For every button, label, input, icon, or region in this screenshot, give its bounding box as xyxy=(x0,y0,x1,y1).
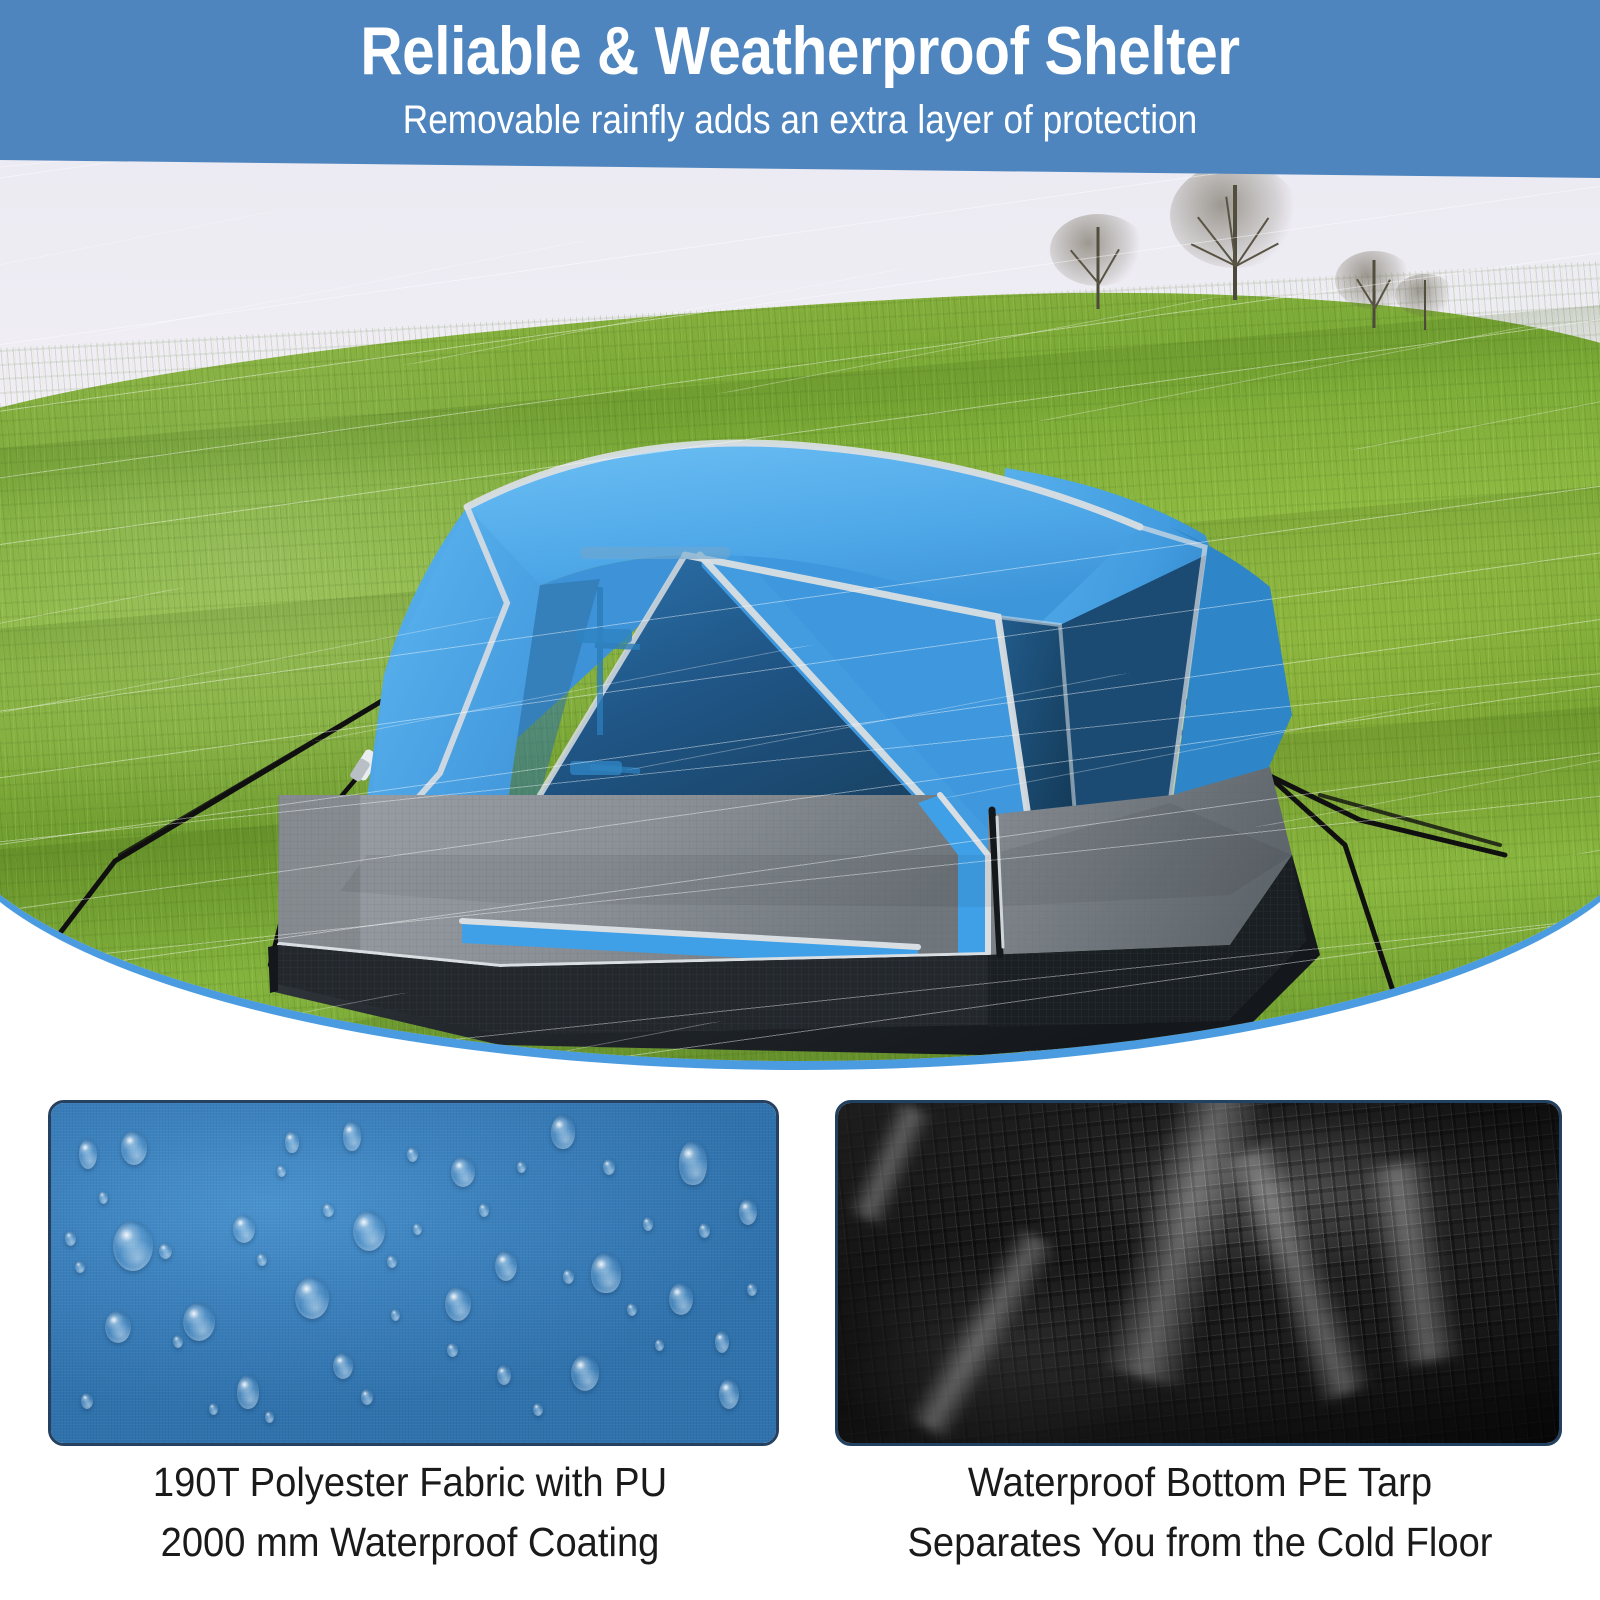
feature-swatches xyxy=(0,1100,1600,1440)
polyester-fabric-swatch xyxy=(48,1100,779,1446)
water-droplet xyxy=(265,1411,274,1423)
water-droplet xyxy=(571,1355,599,1391)
caption-left-line2: 2000 mm Waterproof Coating xyxy=(38,1512,782,1572)
water-droplet xyxy=(447,1343,458,1357)
rainy-meadow-tent-photo xyxy=(0,155,1600,1061)
water-droplet xyxy=(391,1309,400,1321)
water-droplet xyxy=(563,1269,574,1284)
water-droplet xyxy=(445,1287,471,1321)
caption-right-line1: Waterproof Bottom PE Tarp xyxy=(828,1452,1572,1512)
water-droplet xyxy=(451,1157,475,1187)
water-droplet xyxy=(79,1139,97,1169)
water-droplet xyxy=(295,1277,329,1319)
water-droplet xyxy=(747,1283,757,1296)
caption-right: Waterproof Bottom PE Tarp Separates You … xyxy=(828,1452,1572,1572)
water-droplet xyxy=(105,1311,131,1343)
water-droplet xyxy=(603,1159,615,1175)
tent-tarp-left xyxy=(268,945,278,993)
water-droplet xyxy=(353,1211,385,1251)
caption-left: 190T Polyester Fabric with PU 2000 mm Wa… xyxy=(38,1452,782,1572)
water-droplet xyxy=(591,1253,621,1293)
water-droplet xyxy=(257,1253,267,1266)
water-droplet xyxy=(533,1403,543,1416)
camping-tent xyxy=(0,155,1600,1061)
tent-illustration xyxy=(0,155,1600,1061)
header-banner: Reliable & Weatherproof Shelter Removabl… xyxy=(0,0,1600,178)
water-droplet xyxy=(343,1121,361,1151)
water-droplet xyxy=(627,1303,637,1316)
water-droplet xyxy=(361,1389,373,1405)
hero-image-container xyxy=(0,155,1600,1075)
water-droplet xyxy=(387,1255,397,1268)
water-droplet xyxy=(183,1303,215,1341)
water-droplet xyxy=(407,1147,418,1162)
water-droplet xyxy=(233,1215,255,1243)
page-title: Reliable & Weatherproof Shelter xyxy=(112,12,1488,90)
water-droplet xyxy=(479,1203,489,1217)
inner-tent-top-bar xyxy=(580,547,730,559)
water-droplet xyxy=(413,1223,422,1235)
water-droplet xyxy=(495,1251,517,1281)
water-droplet xyxy=(285,1131,299,1153)
water-droplet xyxy=(113,1221,153,1271)
page-subtitle: Removable rainfly adds an extra layer of… xyxy=(96,96,1504,144)
water-droplet xyxy=(173,1335,183,1348)
water-droplet xyxy=(323,1203,334,1217)
water-droplet xyxy=(715,1331,729,1353)
inner-tent-loop xyxy=(576,629,632,643)
caption-left-line1: 190T Polyester Fabric with PU xyxy=(38,1452,782,1512)
water-droplet xyxy=(699,1223,710,1238)
water-droplet xyxy=(277,1165,286,1177)
water-droplet xyxy=(75,1261,85,1273)
pe-tarp-swatch xyxy=(835,1100,1562,1446)
water-droplet xyxy=(159,1243,172,1259)
water-droplet xyxy=(669,1283,693,1315)
water-droplet xyxy=(333,1353,353,1379)
water-droplet xyxy=(739,1199,757,1225)
inner-tent-loop xyxy=(570,761,622,775)
water-droplet xyxy=(99,1191,108,1204)
water-droplet xyxy=(517,1161,526,1173)
water-droplet xyxy=(81,1393,93,1409)
water-droplet xyxy=(121,1131,147,1165)
water-droplet xyxy=(209,1403,218,1415)
caption-right-line2: Separates You from the Cold Floor xyxy=(828,1512,1572,1572)
water-droplet xyxy=(643,1217,653,1231)
water-droplet xyxy=(237,1375,259,1409)
water-droplet xyxy=(719,1379,739,1409)
water-droplet xyxy=(65,1231,76,1246)
water-droplet xyxy=(655,1339,664,1351)
water-droplet xyxy=(497,1365,511,1385)
water-droplet xyxy=(551,1115,575,1149)
water-droplet xyxy=(679,1141,707,1185)
